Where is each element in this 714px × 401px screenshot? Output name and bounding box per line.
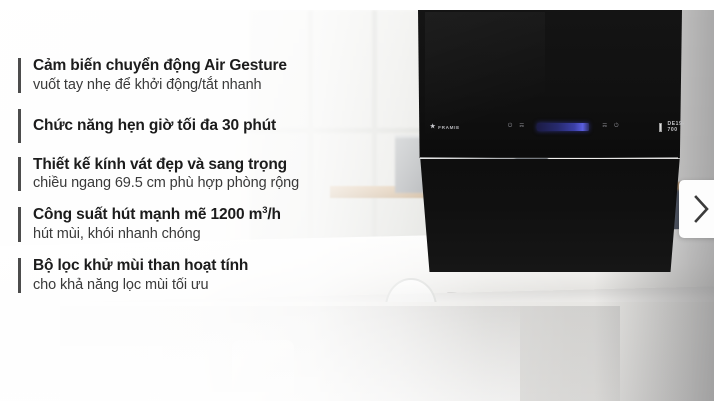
feature-title: Thiết kế kính vát đẹp và sang trọng [33, 155, 388, 175]
feature-item-design: Thiết kế kính vát đẹp và sang trọng chiề… [18, 155, 388, 194]
hood-panel-seam [420, 157, 678, 159]
feature-title-suffix: /h [267, 206, 280, 223]
feature-subtitle: vuốt tay nhẹ để khởi động/tắt nhanh [33, 76, 388, 95]
carousel-next-button[interactable] [679, 180, 714, 238]
fan-speed-icon[interactable]: ☴ [519, 124, 524, 130]
feature-item-carbon-filter: Bộ lọc khử mùi than hoạt tính cho khả nă… [18, 256, 388, 295]
hood-brand-label: FRAMIE [438, 125, 460, 130]
feature-title: Cảm biến chuyển động Air Gesture [33, 56, 388, 76]
feature-title-prefix: Công suất hút mạnh mẽ 1200 m [33, 206, 262, 223]
hood-control-panel: ★ FRAMIE ⏻ ☴ ☴ ⏻ DE19-700 [430, 119, 674, 135]
light-icon[interactable]: ☴ [602, 124, 607, 130]
hood-led-display [537, 123, 589, 131]
feature-subtitle: chiều ngang 69.5 cm phù hợp phòng rộng [33, 174, 388, 193]
hood-brand-logo: ★ FRAMIE [430, 124, 460, 130]
feature-title: Bộ lọc khử mùi than hoạt tính [33, 256, 388, 276]
feature-list: Cảm biến chuyển động Air Gesture vuốt ta… [18, 56, 388, 307]
product-banner-slide: ★ FRAMIE ⏻ ☴ ☴ ⏻ DE19-700 Cảm biến chuyể… [0, 0, 714, 401]
hood-lower-glass-panel [419, 159, 681, 272]
feature-subtitle: cho khả năng lọc mùi tối ưu [33, 276, 388, 295]
chevron-right-icon [693, 194, 711, 224]
star-icon: ★ [430, 124, 436, 130]
timer-icon[interactable]: ⏻ [614, 124, 618, 130]
hood-model-label: DE19-700 [668, 121, 685, 133]
hood-touch-controls[interactable]: ⏻ ☴ ☴ ⏻ [508, 123, 619, 131]
feature-title: Công suất hút mạnh mẽ 1200 m3/h [33, 205, 388, 225]
power-icon[interactable]: ⏻ [508, 124, 512, 130]
feature-item-timer: Chức năng hẹn giờ tối đa 30 phút [18, 107, 388, 145]
feature-title: Chức năng hẹn giờ tối đa 30 phút [33, 116, 388, 136]
hood-rating-sticker [659, 123, 662, 132]
feature-item-suction-power: Công suất hút mạnh mẽ 1200 m3/h hút mùi,… [18, 205, 388, 244]
hood-upper-glass-panel [418, 10, 682, 158]
feature-subtitle: hút mùi, khói nhanh chóng [33, 225, 388, 244]
feature-item-air-gesture: Cảm biến chuyển động Air Gesture vuốt ta… [18, 56, 388, 95]
